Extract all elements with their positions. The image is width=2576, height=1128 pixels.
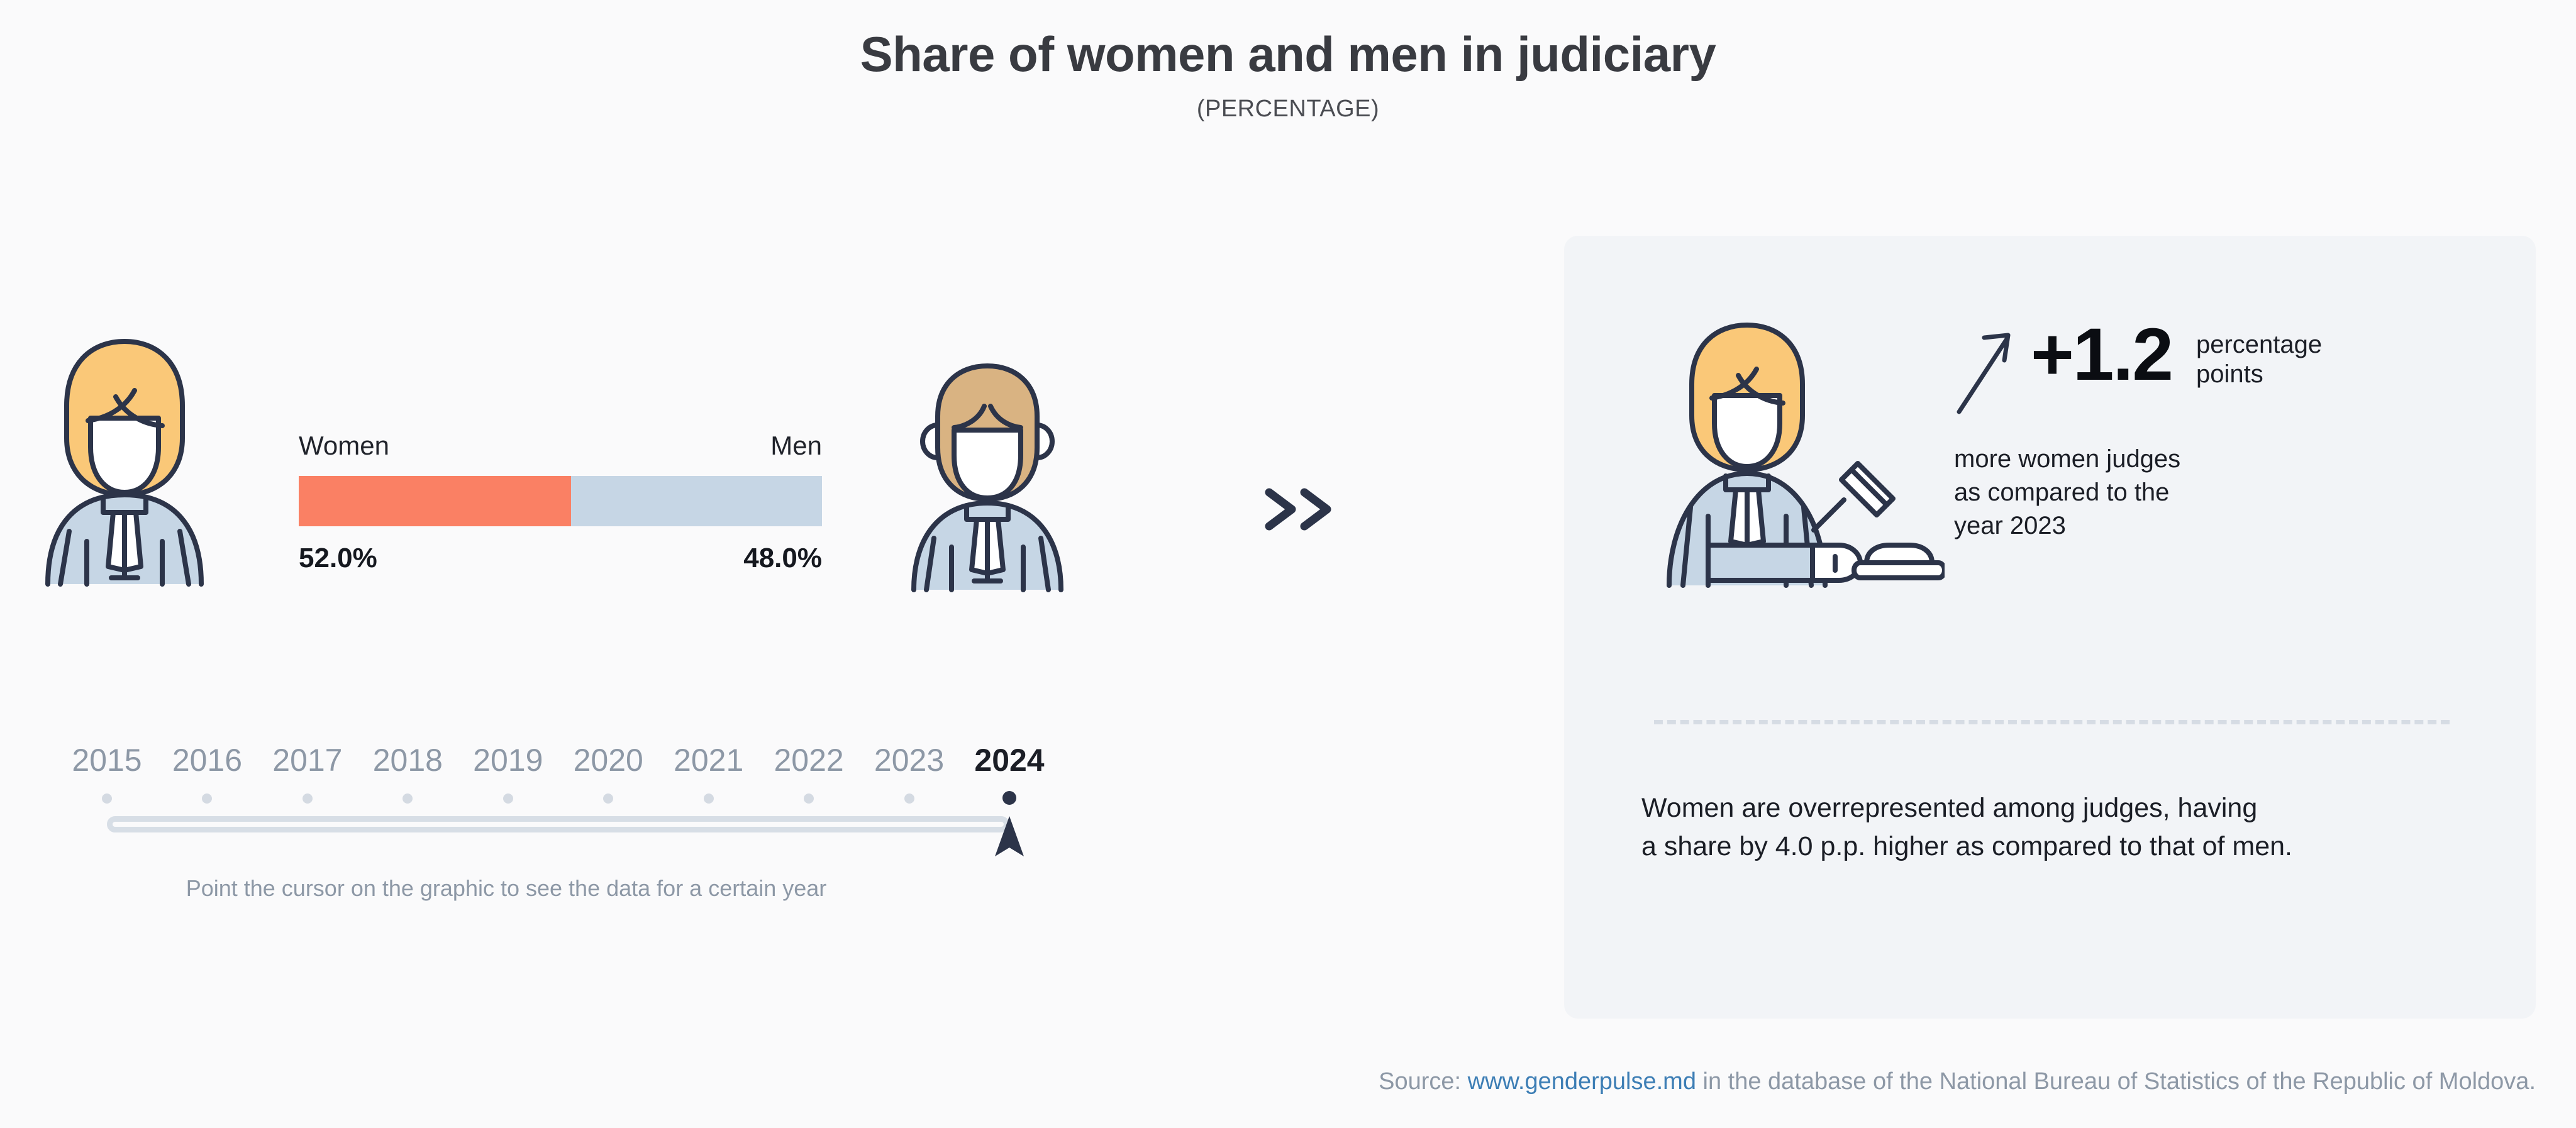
timeline-dot-2022[interactable] (804, 793, 814, 804)
arrow-up-right-icon (1954, 329, 2017, 420)
stat-value: +1.2 (2031, 318, 2172, 392)
year-labels-row: 2015201620172018201920202021202220232024 (0, 742, 1107, 781)
timeline-year-2023[interactable]: 2023 (874, 742, 944, 778)
timeline-track[interactable] (107, 816, 1009, 832)
bar-legend: Women Men (299, 431, 822, 461)
timeline-cursor-icon[interactable] (992, 814, 1026, 863)
timeline-dot-2024[interactable] (1002, 791, 1016, 805)
timeline-year-2019[interactable]: 2019 (473, 742, 543, 778)
source-prefix: Source: (1379, 1068, 1468, 1095)
bar-segment-men[interactable] (571, 476, 822, 526)
stacked-bar[interactable] (299, 476, 822, 526)
women-label: Women (299, 431, 389, 461)
timeline-year-2018[interactable]: 2018 (373, 742, 443, 778)
timeline-dot-2016[interactable] (202, 793, 212, 804)
timeline-dot-2018[interactable] (402, 793, 413, 804)
timeline-year-2016[interactable]: 2016 (172, 742, 242, 778)
men-label: Men (770, 431, 822, 461)
timeline-dot-2020[interactable] (603, 793, 613, 804)
chevron-double-right-icon (1258, 481, 1340, 538)
women-value: 52.0% (299, 543, 377, 574)
source-link[interactable]: www.genderpulse.md (1468, 1068, 1696, 1095)
year-dots-row (0, 790, 1107, 811)
men-value: 48.0% (743, 543, 822, 574)
timeline-year-2022[interactable]: 2022 (774, 742, 843, 778)
source-suffix: in the database of the National Bureau o… (1696, 1068, 2536, 1095)
page-header: Share of women and men in judiciary (PER… (0, 0, 2576, 123)
share-bar-block: Women Men 52.0% 48.0% (299, 431, 822, 574)
page-subtitle: (PERCENTAGE) (0, 96, 2576, 123)
timeline-hint: Point the cursor on the graphic to see t… (0, 875, 1013, 902)
panel-divider (1654, 720, 2450, 724)
stat-block: +1.2 percentage points more women judges… (1954, 318, 2520, 542)
timeline-year-2024[interactable]: 2024 (974, 742, 1044, 778)
woman-judge-avatar-icon (30, 324, 219, 591)
man-judge-avatar-icon (896, 347, 1079, 595)
bar-segment-women[interactable] (299, 476, 571, 526)
woman-judge-gavel-icon (1655, 311, 1945, 591)
timeline-track-wrap[interactable] (0, 816, 1107, 854)
insight-panel: +1.2 percentage points more women judges… (1564, 236, 2536, 1019)
timeline-dot-2019[interactable] (503, 793, 513, 804)
timeline-dot-2015[interactable] (102, 793, 112, 804)
timeline-dot-2021[interactable] (704, 793, 714, 804)
source-footer: Source: www.genderpulse.md in the databa… (0, 1068, 2536, 1095)
timeline-year-2020[interactable]: 2020 (574, 742, 643, 778)
timeline-year-2021[interactable]: 2021 (674, 742, 743, 778)
timeline-dot-2023[interactable] (904, 793, 914, 804)
page-title: Share of women and men in judiciary (0, 28, 2576, 82)
timeline-year-2017[interactable]: 2017 (272, 742, 342, 778)
timeline-year-2015[interactable]: 2015 (72, 742, 142, 778)
stat-description: more women judges as compared to the yea… (1954, 443, 2520, 542)
stat-unit: percentage points (2196, 330, 2322, 389)
timeline-dot-2017[interactable] (303, 793, 313, 804)
stat-headline: +1.2 percentage points (1954, 318, 2520, 420)
panel-note: Women are overrepresented among judges, … (1641, 789, 2484, 866)
year-timeline[interactable]: 2015201620172018201920202021202220232024… (0, 742, 1107, 902)
bar-values: 52.0% 48.0% (299, 543, 822, 574)
